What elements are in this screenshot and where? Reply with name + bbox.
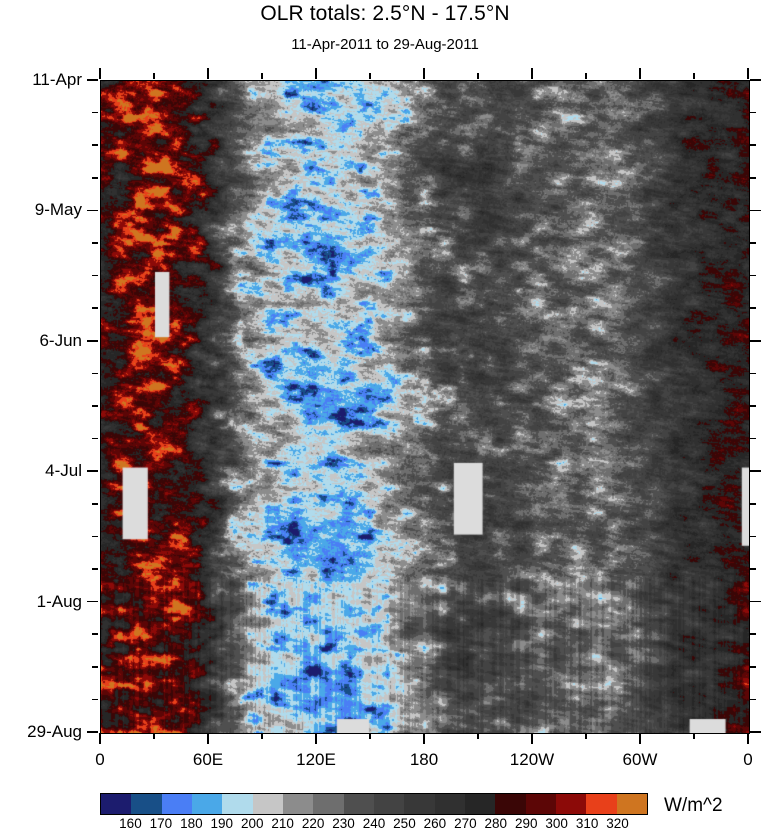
y-axis-right-minor-tick: [750, 666, 756, 668]
x-axis-top-major-tick: [423, 68, 425, 79]
x-axis-major-tick: [99, 733, 101, 744]
y-axis-major-tick: [87, 731, 98, 733]
x-axis-top-major-tick: [531, 68, 533, 79]
y-axis-right-major-tick: [750, 210, 761, 212]
y-axis-right-minor-tick: [750, 503, 756, 505]
olr-heatmap-canvas: [101, 81, 749, 733]
colorbar-swatch: [192, 794, 222, 814]
chart-subtitle: 11-Apr-2011 to 29-Aug-2011: [0, 36, 770, 53]
x-axis-major-tick: [531, 733, 533, 744]
colorbar-swatch: [465, 794, 495, 814]
y-axis-minor-tick: [92, 373, 98, 375]
y-axis-major-tick: [87, 340, 98, 342]
x-axis-top-minor-tick: [153, 73, 155, 79]
y-axis-right-major-tick: [750, 470, 761, 472]
y-axis-minor-tick: [92, 568, 98, 570]
x-axis-top-minor-tick: [693, 73, 695, 79]
colorbar-tick-label: 240: [363, 816, 386, 831]
y-axis-right-major-tick: [750, 340, 761, 342]
x-axis-top-minor-tick: [369, 73, 371, 79]
y-axis-right-major-tick: [750, 79, 761, 81]
colorbar-tick-label: 170: [150, 816, 173, 831]
colorbar-tick-label: 250: [393, 816, 416, 831]
y-axis-major-tick: [87, 79, 98, 81]
x-axis-minor-tick: [693, 733, 695, 739]
y-axis-label: 1-Aug: [0, 592, 82, 612]
x-axis-label: 120W: [510, 750, 554, 770]
x-axis-top-major-tick: [207, 68, 209, 79]
x-axis-top-major-tick: [639, 68, 641, 79]
y-axis-minor-tick: [92, 666, 98, 668]
x-axis-minor-tick: [153, 733, 155, 739]
colorbar-swatch: [617, 794, 647, 814]
colorbar-swatch: [404, 794, 434, 814]
colorbar-swatch: [344, 794, 374, 814]
x-axis-major-tick: [747, 733, 749, 744]
y-axis-right-minor-tick: [750, 536, 756, 538]
y-axis-label: 4-Jul: [0, 461, 82, 481]
y-axis-right-minor-tick: [750, 438, 756, 440]
y-axis-right-minor-tick: [750, 699, 756, 701]
olr-hovmoller-figure: OLR totals: 2.5°N - 17.5°N 11-Apr-2011 t…: [0, 0, 770, 834]
colorbar-tick-label: 290: [515, 816, 538, 831]
colorbar-swatch: [162, 794, 192, 814]
x-axis-label: 60E: [193, 750, 223, 770]
x-axis-top-minor-tick: [477, 73, 479, 79]
y-axis-label: 9-May: [0, 200, 82, 220]
y-axis-minor-tick: [92, 699, 98, 701]
x-axis-label: 60W: [623, 750, 658, 770]
colorbar-swatch: [131, 794, 161, 814]
y-axis-minor-tick: [92, 438, 98, 440]
y-axis-right-minor-tick: [750, 307, 756, 309]
colorbar-swatch: [526, 794, 556, 814]
x-axis-major-tick: [315, 733, 317, 744]
y-axis-minor-tick: [92, 405, 98, 407]
y-axis-minor-tick: [92, 307, 98, 309]
colorbar-tick-label: 200: [241, 816, 264, 831]
x-axis-label: 180: [410, 750, 438, 770]
colorbar-swatch: [586, 794, 616, 814]
colorbar-swatch: [374, 794, 404, 814]
colorbar-tick-label: 270: [454, 816, 477, 831]
page-title: OLR totals: 2.5°N - 17.5°N: [0, 2, 770, 26]
y-axis-minor-tick: [92, 112, 98, 114]
y-axis-right-minor-tick: [750, 112, 756, 114]
colorbar-swatch: [313, 794, 343, 814]
x-axis-label: 120E: [296, 750, 336, 770]
colorbar-tick-label: 320: [606, 816, 629, 831]
y-axis-right-major-tick: [750, 731, 761, 733]
x-axis-minor-tick: [477, 733, 479, 739]
colorbar-tick-label: 190: [211, 816, 234, 831]
plot-area: [100, 80, 750, 734]
colorbar-tick-label: 280: [485, 816, 508, 831]
y-axis-minor-tick: [92, 633, 98, 635]
y-axis-right-minor-tick: [750, 568, 756, 570]
y-axis-minor-tick: [92, 144, 98, 146]
colorbar-tick-label: 210: [271, 816, 294, 831]
x-axis-label: 0: [743, 750, 752, 770]
y-axis-right-minor-tick: [750, 275, 756, 277]
y-axis-right-minor-tick: [750, 633, 756, 635]
x-axis-minor-tick: [585, 733, 587, 739]
colorbar-swatch: [435, 794, 465, 814]
x-axis-minor-tick: [369, 733, 371, 739]
x-axis-major-tick: [207, 733, 209, 744]
colorbar-swatch: [495, 794, 525, 814]
y-axis-major-tick: [87, 210, 98, 212]
x-axis-top-major-tick: [99, 68, 101, 79]
colorbar-tick-label: 220: [302, 816, 325, 831]
colorbar-swatch: [253, 794, 283, 814]
x-axis-top-major-tick: [747, 68, 749, 79]
colorbar: [100, 793, 648, 815]
colorbar-units-label: W/m^2: [664, 795, 723, 817]
y-axis-right-major-tick: [750, 601, 761, 603]
y-axis-minor-tick: [92, 536, 98, 538]
x-axis-major-tick: [423, 733, 425, 744]
x-axis-top-minor-tick: [261, 73, 263, 79]
colorbar-tick-label: 160: [119, 816, 142, 831]
y-axis-right-minor-tick: [750, 405, 756, 407]
y-axis-minor-tick: [92, 275, 98, 277]
x-axis-minor-tick: [261, 733, 263, 739]
colorbar-tick-label: 230: [332, 816, 355, 831]
colorbar-swatch: [283, 794, 313, 814]
colorbar-tick-label: 310: [576, 816, 599, 831]
colorbar-swatch: [222, 794, 252, 814]
y-axis-right-minor-tick: [750, 242, 756, 244]
x-axis-top-minor-tick: [585, 73, 587, 79]
y-axis-label: 6-Jun: [0, 331, 82, 351]
colorbar-swatch: [101, 794, 131, 814]
y-axis-minor-tick: [92, 503, 98, 505]
y-axis-major-tick: [87, 470, 98, 472]
x-axis-top-major-tick: [315, 68, 317, 79]
y-axis-major-tick: [87, 601, 98, 603]
colorbar-swatch: [556, 794, 586, 814]
colorbar-tick-label: 260: [424, 816, 447, 831]
y-axis-right-minor-tick: [750, 177, 756, 179]
y-axis-minor-tick: [92, 242, 98, 244]
y-axis-label: 29-Aug: [0, 722, 82, 742]
y-axis-minor-tick: [92, 177, 98, 179]
x-axis-label: 0: [95, 750, 104, 770]
colorbar-tick-label: 300: [545, 816, 568, 831]
y-axis-right-minor-tick: [750, 144, 756, 146]
x-axis-major-tick: [639, 733, 641, 744]
colorbar-tick-label: 180: [180, 816, 203, 831]
y-axis-right-minor-tick: [750, 373, 756, 375]
y-axis-label: 11-Apr: [0, 70, 82, 90]
